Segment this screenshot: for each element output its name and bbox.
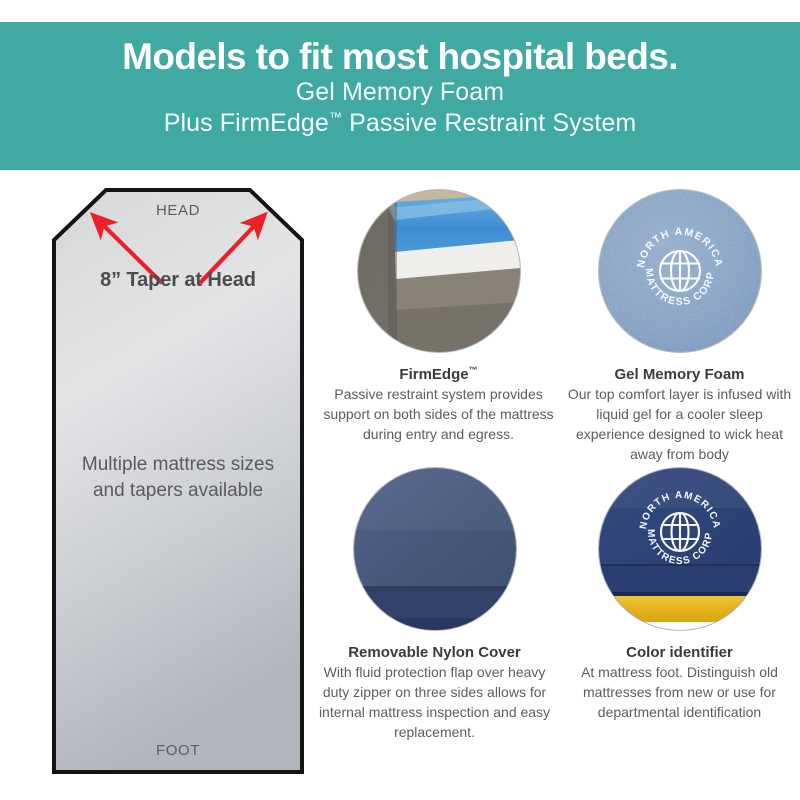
firmedge-photo (358, 190, 520, 352)
mattress-sizes-line-2: and tapers available (52, 478, 304, 504)
header-subtitle-line-2: Plus FirmEdge™ Passive Restraint System (0, 108, 800, 139)
feature-card-gel-memory-foam: NORTH AMERICA MATTRESS CORP. Gel Memory … (559, 190, 800, 465)
gel-memory-foam-photo: NORTH AMERICA MATTRESS CORP. (599, 190, 761, 352)
feature-description-color-identifier: At mattress foot. Distinguish old mattre… (559, 663, 800, 723)
header-banner: Models to fit most hospital beds. Gel Me… (0, 22, 800, 170)
feature-card-color-identifier: NORTH AMERICA MATTRESS CORP. Color ident… (559, 468, 800, 723)
removable-nylon-cover-photo (354, 468, 516, 630)
header-subtitle-post: Passive Restraint System (342, 109, 636, 137)
trademark-symbol: ™ (329, 110, 342, 125)
feature-card-firmedge: FirmEdge™ Passive restraint system provi… (318, 190, 559, 445)
color-identifier-photo: NORTH AMERICA MATTRESS CORP. (599, 468, 761, 630)
feature-card-removable-nylon-cover: Removable Nylon Cover With fluid protect… (314, 468, 555, 743)
header-subtitle-pre: Plus FirmEdge (164, 109, 329, 137)
mattress-sizes-note: Multiple mattress sizes and tapers avail… (52, 452, 304, 504)
feature-grid: FirmEdge™ Passive restraint system provi… (318, 190, 800, 770)
header-subtitle-line-1: Gel Memory Foam (0, 77, 800, 108)
mattress-diagram: HEAD FOOT 8” Taper at Head Multiple matt… (52, 188, 304, 774)
trademark-symbol: ™ (469, 365, 478, 375)
feature-title-color-identifier: Color identifier (559, 644, 800, 661)
feature-description-removable-nylon-cover: With fluid protection flap over heavy du… (314, 663, 555, 743)
mattress-sizes-line-1: Multiple mattress sizes (52, 452, 304, 478)
feature-description-firmedge: Passive restraint system provides suppor… (318, 385, 559, 445)
feature-description-gel-memory-foam: Our top comfort layer is infused with li… (559, 385, 800, 465)
feature-title-firmedge: FirmEdge™ (318, 366, 559, 383)
page-title: Models to fit most hospital beds. (0, 36, 800, 77)
taper-callout: 8” Taper at Head (52, 269, 304, 292)
feature-title-removable-nylon-cover: Removable Nylon Cover (314, 644, 555, 661)
feature-title-text: FirmEdge (399, 366, 468, 383)
feature-title-gel-memory-foam: Gel Memory Foam (559, 366, 800, 383)
